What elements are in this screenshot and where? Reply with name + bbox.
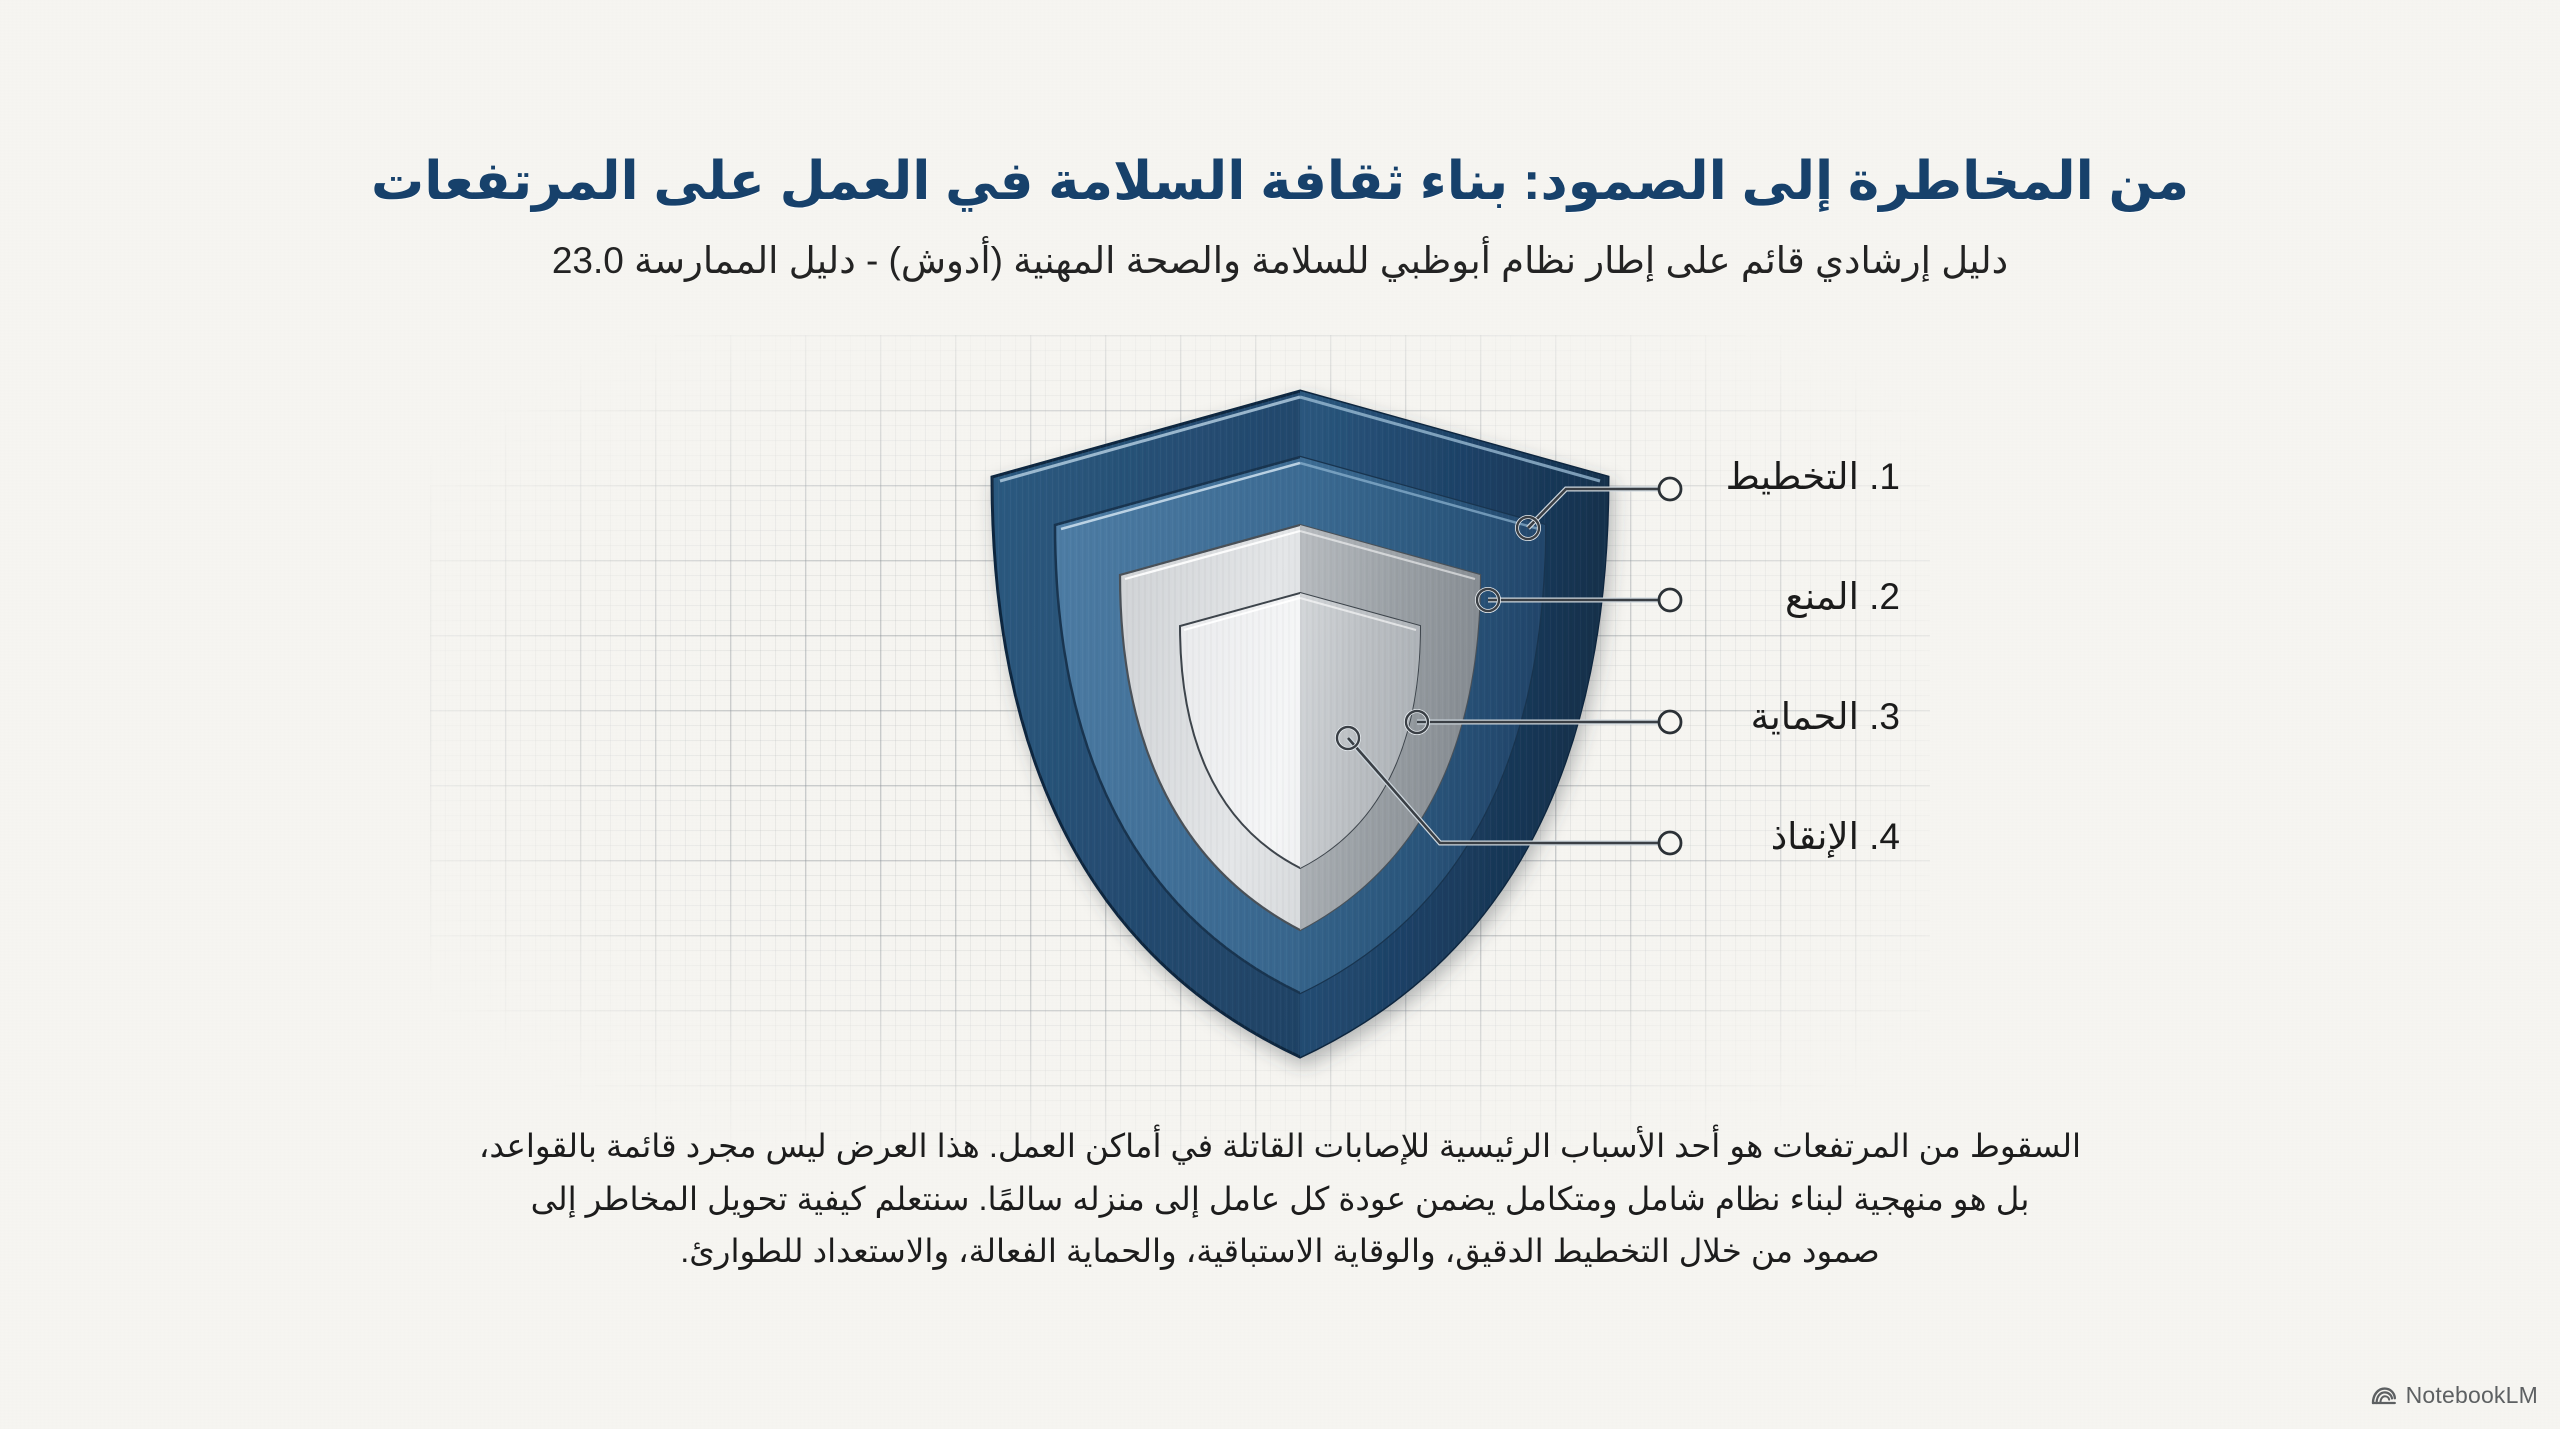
- infographic-page: من المخاطرة إلى الصمود: بناء ثقافة السلا…: [0, 0, 2560, 1429]
- callout-label-planning: 1. التخطيط: [1726, 455, 1900, 498]
- callout-label-prevention: 2. المنع: [1785, 575, 1900, 618]
- footer-description: السقوط من المرتفعات هو أحد الأسباب الرئي…: [380, 1120, 2180, 1278]
- notebooklm-watermark: NotebookLM: [2371, 1382, 2538, 1409]
- notebooklm-icon: [2371, 1386, 2397, 1406]
- notebooklm-label: NotebookLM: [2406, 1382, 2538, 1409]
- callout-label-protection: 3. الحماية: [1751, 695, 1900, 738]
- callout-label-rescue: 4. الإنقاذ: [1771, 815, 1900, 858]
- footer-line-2: بل هو منهجية لبناء نظام شامل ومتكامل يضم…: [380, 1173, 2180, 1226]
- footer-line-1: السقوط من المرتفعات هو أحد الأسباب الرئي…: [380, 1120, 2180, 1173]
- footer-line-3: صمود من خلال التخطيط الدقيق، والوقاية ال…: [380, 1225, 2180, 1278]
